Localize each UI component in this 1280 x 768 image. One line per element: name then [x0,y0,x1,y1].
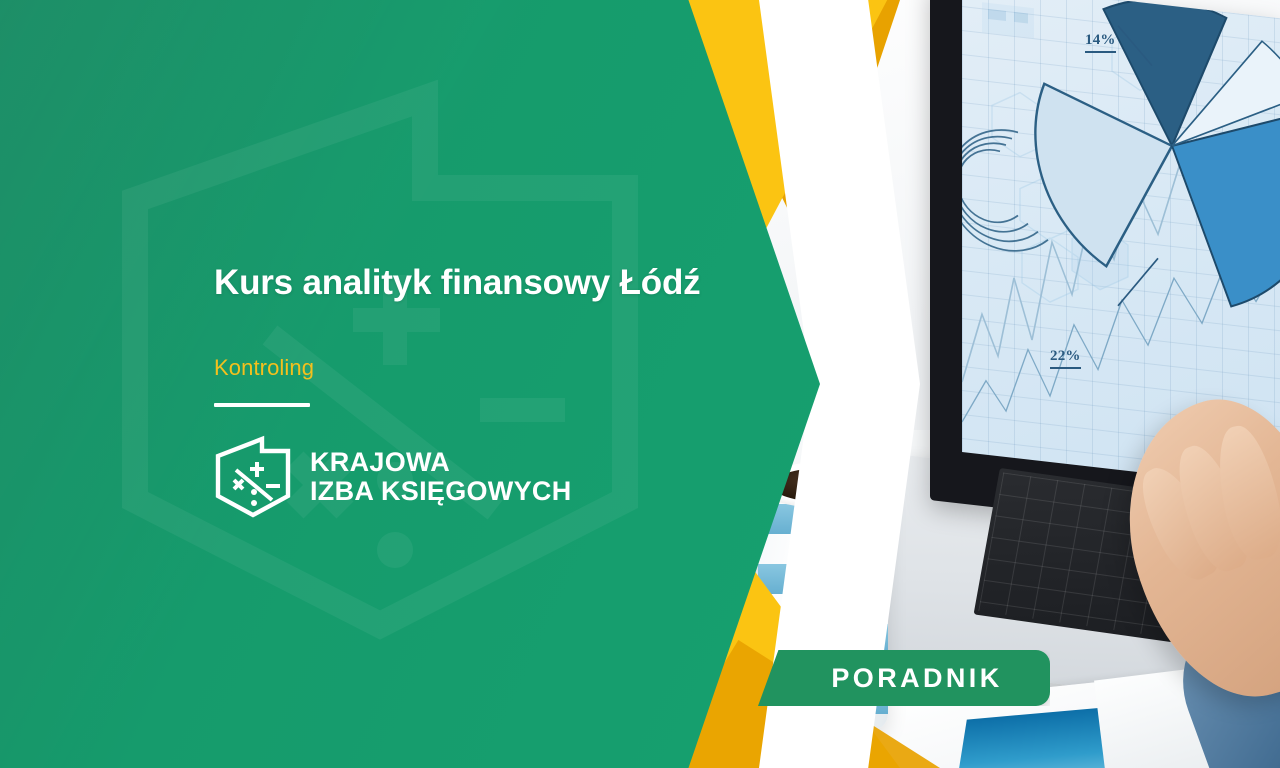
brand-logo: KRAJOWA IZBA KSIĘGOWYCH [214,434,734,520]
badge-label: PORADNIK [805,663,1002,694]
page-title: Kurs analityk finansowy Łódź [214,262,734,303]
logo-line-1: KRAJOWA [310,447,450,477]
banner-content: Kurs analityk finansowy Łódź Kontroling [214,262,734,520]
logo-line-2: IZBA KSIĘGOWYCH [310,477,572,506]
pie-label-14: 14% [1085,32,1116,53]
promo-banner: 14% 22% [0,0,1280,768]
hexagon-shield-math-icon [214,434,296,520]
pie-label-22: 22% [1050,348,1081,369]
brand-logo-text: KRAJOWA IZBA KSIĘGOWYCH [310,448,572,506]
poradnik-badge[interactable]: PORADNIK [758,650,1050,706]
banner-subtitle: Kontroling [214,355,734,381]
divider-rule [214,403,310,407]
pie-chart-icon [1000,0,1280,399]
